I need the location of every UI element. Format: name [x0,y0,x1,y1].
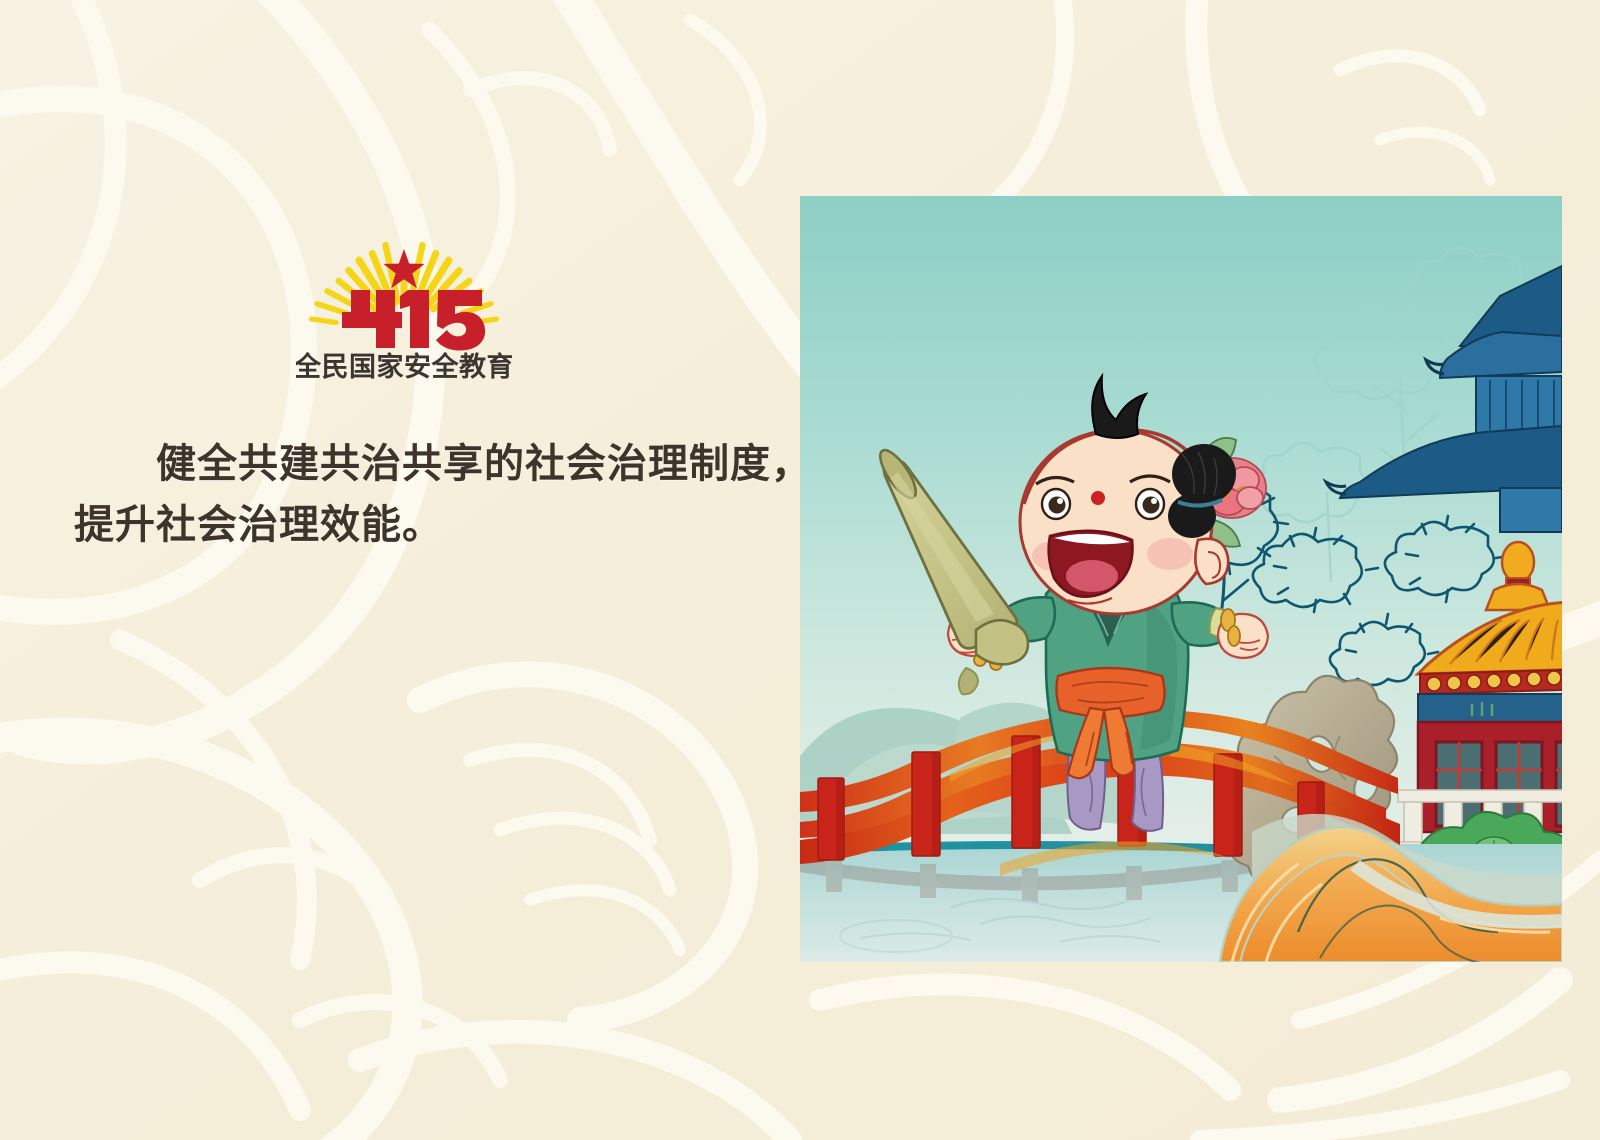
slogan-line-2: 提升社会治理效能。 [74,495,774,556]
415-logo: 全民国家安全教育 [296,236,512,384]
poster-canvas: 全民国家安全教育 健全共建共治共享的社会治理制度， 提升社会治理效能。 [0,0,1600,1140]
left-content-column: 全民国家安全教育 健全共建共治共享的社会治理制度， 提升社会治理效能。 [0,0,790,1140]
forehead-dot [1091,491,1105,505]
logo-block: 全民国家安全教育 [296,236,512,384]
slogan-line-1: 健全共建共治共享的社会治理制度， [74,434,774,495]
slogan-text: 健全共建共治共享的社会治理制度， 提升社会治理效能。 [74,434,774,556]
logo-number-415 [342,290,485,351]
illustration-panel [800,196,1562,962]
illustration-artwork [800,196,1562,962]
logo-caption: 全民国家安全教育 [296,351,512,382]
